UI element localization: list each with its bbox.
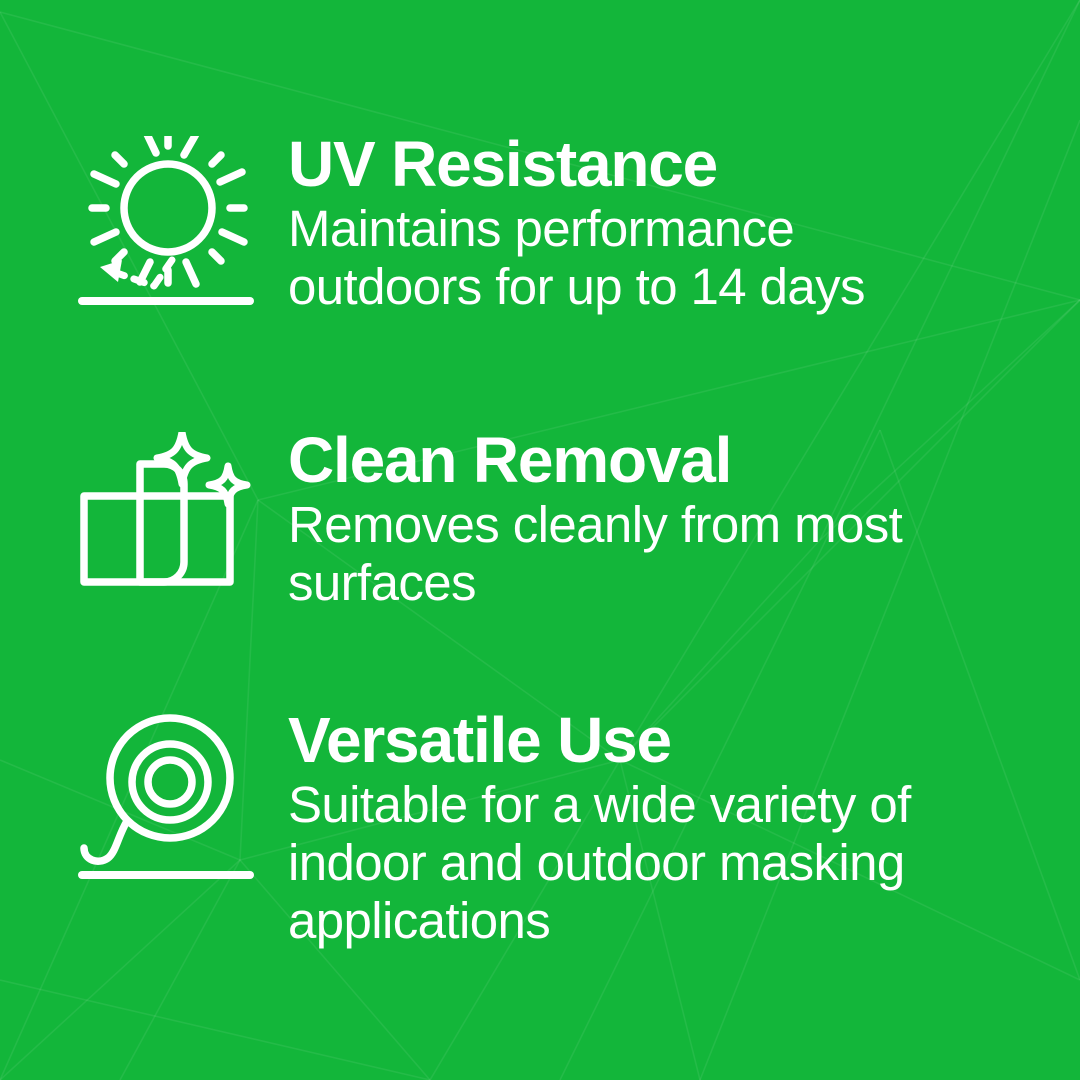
feature-description: Removes cleanly from most surfaces: [288, 496, 988, 612]
feature-text-uv-resistance: UV Resistance Maintains performance outd…: [288, 128, 1020, 316]
tape-roll-icon: [78, 712, 254, 888]
sun-uv-reflect-icon: [78, 136, 254, 312]
feature-list: UV Resistance Maintains performance outd…: [0, 0, 1080, 1080]
feature-title: UV Resistance: [288, 130, 1020, 198]
feature-item-versatile-use: Versatile Use Suitable for a wide variet…: [78, 704, 1020, 950]
feature-item-uv-resistance: UV Resistance Maintains performance outd…: [78, 128, 1020, 316]
feature-text-clean-removal: Clean Removal Removes cleanly from most …: [288, 424, 1020, 612]
feature-item-clean-removal: Clean Removal Removes cleanly from most …: [78, 424, 1020, 612]
feature-title: Clean Removal: [288, 426, 1020, 494]
feature-text-versatile-use: Versatile Use Suitable for a wide variet…: [288, 704, 1020, 950]
feature-description: Suitable for a wide variety of indoor an…: [288, 776, 988, 950]
peeling-tape-sparkle-icon: [78, 432, 254, 608]
feature-title: Versatile Use: [288, 706, 1020, 774]
feature-description: Maintains performance outdoors for up to…: [288, 200, 988, 316]
